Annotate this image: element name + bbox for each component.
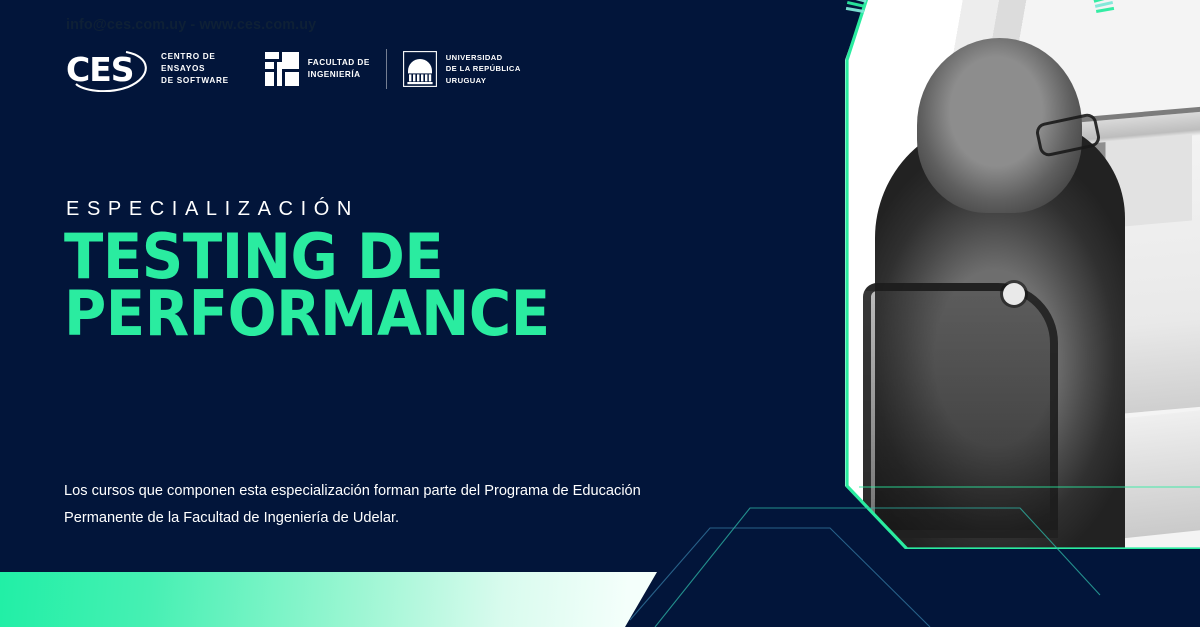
ces-tagline-line3: DE SOFTWARE <box>161 75 229 87</box>
udelar-logo[interactable]: UNIVERSIDAD DE LA REPÚBLICA URUGUAY <box>403 51 521 87</box>
ces-tagline: CENTRO DE ENSAYOS DE SOFTWARE <box>161 51 229 87</box>
photo-chair-knob <box>1003 283 1025 305</box>
ces-wordmark-icon: CES <box>66 46 152 92</box>
hero-photo-image <box>845 0 1200 549</box>
udelar-label: UNIVERSIDAD DE LA REPÚBLICA URUGUAY <box>446 52 521 86</box>
fing-mark-icon <box>265 52 299 86</box>
logo-row: CES CENTRO DE ENSAYOS DE SOFTWARE F <box>66 46 521 92</box>
udelar-crest-icon <box>403 51 437 87</box>
banner-root: CES CENTRO DE ENSAYOS DE SOFTWARE F <box>0 0 1200 627</box>
hero-eyebrow: ESPECIALIZACIÓN <box>66 198 359 221</box>
hero-title-line2: PERFORMANCE <box>64 285 641 342</box>
svg-text:CES: CES <box>66 50 134 89</box>
fing-label-line2: INGENIERÍA <box>308 69 370 81</box>
ces-tagline-line2: ENSAYOS <box>161 63 229 75</box>
fing-label-line1: FACULTAD DE <box>308 57 370 69</box>
udelar-label-line3: URUGUAY <box>446 75 521 86</box>
ces-logo[interactable]: CES CENTRO DE ENSAYOS DE SOFTWARE <box>66 46 229 92</box>
hero-title: TESTING DE PERFORMANCE <box>64 228 641 342</box>
fing-logo[interactable]: FACULTAD DE INGENIERÍA <box>265 52 370 86</box>
logo-divider <box>386 49 387 89</box>
udelar-label-line2: DE LA REPÚBLICA <box>446 63 521 74</box>
footer-bar <box>0 572 680 627</box>
hero-photo-panel <box>845 0 1200 549</box>
hero-description: Los cursos que componen esta especializa… <box>64 478 704 532</box>
ces-tagline-line1: CENTRO DE <box>161 51 229 63</box>
udelar-label-line1: UNIVERSIDAD <box>446 52 521 63</box>
footer-contact[interactable]: info@ces.com.uy - www.ces.com.uy <box>66 17 316 33</box>
photo-chair <box>863 283 1058 538</box>
fing-label: FACULTAD DE INGENIERÍA <box>308 57 370 81</box>
